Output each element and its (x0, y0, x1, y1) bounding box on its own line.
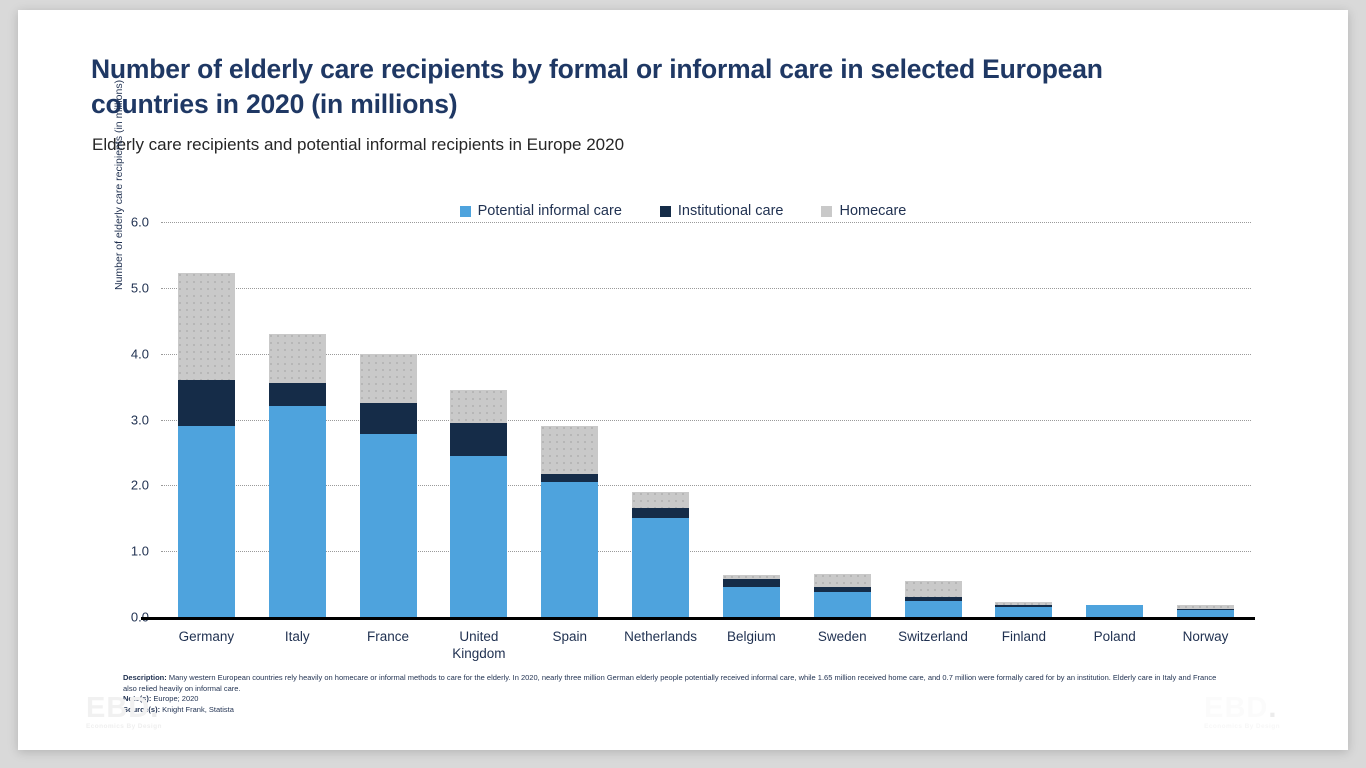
bar-segment-potential-informal-care[interactable] (178, 426, 235, 617)
bar-segment-potential-informal-care[interactable] (1177, 610, 1234, 617)
y-axis-tick-label: 3.0 (131, 412, 149, 427)
bar-stack[interactable] (178, 273, 235, 617)
bar-slot (252, 222, 343, 617)
bar-segment-potential-informal-care[interactable] (541, 482, 598, 617)
bar-segment-homecare[interactable] (905, 581, 962, 597)
bar-segment-institutional-care[interactable] (723, 579, 780, 587)
y-axis-tick-label: 1.0 (131, 544, 149, 559)
plot-area: 0.01.02.03.04.05.06.0 (161, 222, 1251, 620)
legend-label: Institutional care (678, 203, 784, 219)
bar-slot (797, 222, 888, 617)
bar-slot (978, 222, 1069, 617)
bar-segment-homecare[interactable] (814, 574, 871, 587)
screenshot-page: Number of elderly care recipients by for… (0, 0, 1366, 768)
bar-stack[interactable] (905, 581, 962, 617)
legend-item[interactable]: Homecare (821, 203, 906, 219)
x-axis-labels: GermanyItalyFranceUnited KingdomSpainNet… (161, 628, 1251, 662)
legend-swatch-icon (460, 206, 471, 217)
chart-slide: Number of elderly care recipients by for… (18, 10, 1348, 750)
watermark-left: EBD. Economics By Design (86, 694, 162, 730)
chart-legend: Potential informal careInstitutional car… (18, 203, 1348, 219)
x-axis-tick-label: Sweden (797, 628, 888, 662)
watermark-dot: . (1268, 692, 1277, 724)
bar-segment-potential-informal-care[interactable] (905, 601, 962, 617)
bar-segment-potential-informal-care[interactable] (995, 607, 1052, 617)
bar-stack[interactable] (450, 390, 507, 617)
bar-segment-homecare[interactable] (178, 273, 235, 380)
bar-segment-homecare[interactable] (269, 334, 326, 383)
bar-segment-institutional-care[interactable] (360, 403, 417, 434)
bar-segment-potential-informal-care[interactable] (632, 518, 689, 617)
legend-swatch-icon (821, 206, 832, 217)
x-axis-tick-label: France (343, 628, 434, 662)
bar-slot (161, 222, 252, 617)
footnote-description: Description: Many western European count… (123, 673, 1223, 694)
bar-segment-potential-informal-care[interactable] (450, 456, 507, 617)
bar-slot (433, 222, 524, 617)
watermark-right: EBD. Economics By Design (1204, 694, 1280, 730)
y-axis-tick-label: 5.0 (131, 280, 149, 295)
x-axis-tick-label: Switzerland (888, 628, 979, 662)
bar-segment-institutional-care[interactable] (450, 423, 507, 456)
footnote-sources: Source(s): Knight Frank, Statista (123, 705, 1223, 716)
bar-stack[interactable] (723, 575, 780, 617)
footnote-notes: Note(s): Europe; 2020 (123, 694, 1223, 705)
bar-segment-homecare[interactable] (632, 492, 689, 508)
x-axis-tick-label: Poland (1069, 628, 1160, 662)
description-text: Many western European countries rely hea… (123, 673, 1216, 693)
bar-segment-potential-informal-care[interactable] (723, 587, 780, 617)
bar-stack[interactable] (360, 354, 417, 617)
y-axis-tick-label: 6.0 (131, 215, 149, 230)
bar-stack[interactable] (632, 492, 689, 617)
watermark-text: EBD (1204, 692, 1268, 724)
bar-segment-potential-informal-care[interactable] (269, 406, 326, 617)
bar-slot (615, 222, 706, 617)
bar-stack[interactable] (995, 602, 1052, 617)
chart-subtitle: Elderly care recipients and potential in… (92, 135, 624, 155)
bar-segment-institutional-care[interactable] (632, 508, 689, 518)
description-label: Description: (123, 673, 167, 682)
watermark-tagline: Economics By Design (1204, 723, 1280, 730)
bars-group (161, 222, 1251, 617)
bar-segment-homecare[interactable] (541, 426, 598, 473)
bar-slot (706, 222, 797, 617)
x-axis-tick-label: Germany (161, 628, 252, 662)
page-title: Number of elderly care recipients by for… (91, 52, 1221, 122)
x-axis-tick-label: Finland (978, 628, 1069, 662)
bar-segment-potential-informal-care[interactable] (360, 434, 417, 617)
bar-segment-potential-informal-care[interactable] (1086, 605, 1143, 617)
bar-stack[interactable] (814, 574, 871, 617)
legend-label: Potential informal care (478, 203, 622, 219)
bar-slot (524, 222, 615, 617)
x-axis-line (141, 617, 1255, 620)
bar-segment-institutional-care[interactable] (541, 474, 598, 483)
x-axis-tick-label: Spain (524, 628, 615, 662)
watermark-text: EBD (86, 692, 150, 724)
watermark-dot: . (150, 692, 159, 724)
sources-text: Knight Frank, Statista (160, 705, 234, 714)
bar-slot (1069, 222, 1160, 617)
footnotes: Description: Many western European count… (123, 673, 1223, 715)
bar-slot (343, 222, 434, 617)
legend-item[interactable]: Potential informal care (460, 203, 622, 219)
bar-stack[interactable] (269, 334, 326, 617)
x-axis-tick-label: United Kingdom (433, 628, 524, 662)
bar-segment-homecare[interactable] (360, 354, 417, 403)
y-axis-title: Number of elderly care recipients (in mi… (113, 80, 125, 290)
x-axis-tick-label: Belgium (706, 628, 797, 662)
x-axis-tick-label: Netherlands (615, 628, 706, 662)
x-axis-tick-label: Italy (252, 628, 343, 662)
bar-stack[interactable] (541, 426, 598, 617)
legend-label: Homecare (839, 203, 906, 219)
bar-segment-institutional-care[interactable] (269, 383, 326, 406)
bar-segment-potential-informal-care[interactable] (814, 592, 871, 617)
bar-stack[interactable] (1177, 605, 1234, 617)
bar-slot (888, 222, 979, 617)
y-axis-tick-label: 4.0 (131, 346, 149, 361)
y-axis-tick-label: 2.0 (131, 478, 149, 493)
bar-stack[interactable] (1086, 605, 1143, 617)
watermark-tagline: Economics By Design (86, 723, 162, 730)
bar-segment-institutional-care[interactable] (178, 380, 235, 426)
legend-item[interactable]: Institutional care (660, 203, 784, 219)
bar-segment-homecare[interactable] (450, 390, 507, 423)
legend-swatch-icon (660, 206, 671, 217)
x-axis-tick-label: Norway (1160, 628, 1251, 662)
bar-slot (1160, 222, 1251, 617)
